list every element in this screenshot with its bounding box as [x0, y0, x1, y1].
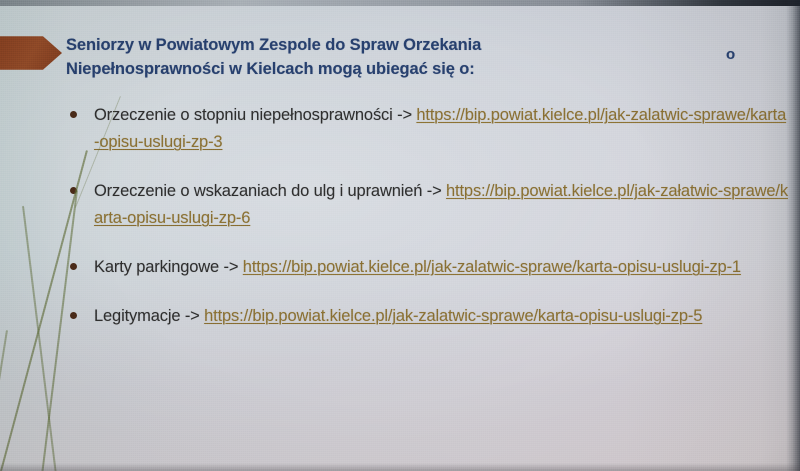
slide-title: Seniorzy w Powiatowym Zespole do Spraw O…	[66, 33, 706, 81]
list-item-label: Orzeczenie o wskazaniach do ulg i uprawn…	[94, 182, 422, 200]
arrow-separator: ->	[422, 182, 446, 200]
list-item: Orzeczenie o wskazaniach do ulg i uprawn…	[64, 178, 788, 232]
list-item: Karty parkingowe -> https://bip.powiat.k…	[64, 254, 788, 281]
bullet-marker-icon	[70, 263, 77, 270]
screen-frame-bottom	[0, 463, 800, 471]
slide-title-line-1: Seniorzy w Powiatowym Zespole do Spraw O…	[66, 33, 706, 57]
stray-character: o	[726, 46, 735, 64]
list-item: Legitymacje -> https://bip.powiat.kielce…	[64, 303, 788, 330]
list-item-label: Legitymacje	[94, 307, 180, 325]
screen-frame-right	[786, 0, 800, 471]
bullet-marker-icon	[70, 111, 77, 118]
arrow-separator: ->	[393, 106, 417, 124]
slide-content: Seniorzy w Powiatowym Zespole do Spraw O…	[0, 0, 800, 471]
list-item-link[interactable]: https://bip.powiat.kielce.pl/jak-zalatwi…	[204, 307, 702, 325]
arrow-separator: ->	[219, 258, 243, 276]
list-item-label: Karty parkingowe	[94, 258, 219, 276]
list-item: Orzeczenie o stopniu niepełnosprawności …	[64, 102, 788, 156]
bullet-marker-icon	[70, 312, 77, 319]
arrow-separator: ->	[180, 307, 204, 325]
list-item-label: Orzeczenie o stopniu niepełnosprawności	[94, 106, 393, 124]
slide-title-line-2: Niepełnosprawności w Kielcach mogą ubieg…	[66, 57, 706, 81]
projected-slide-photo: Seniorzy w Powiatowym Zespole do Spraw O…	[0, 0, 800, 471]
list-item-link[interactable]: https://bip.powiat.kielce.pl/jak-zalatwi…	[243, 258, 741, 276]
bullet-list: Orzeczenie o stopniu niepełnosprawności …	[64, 102, 788, 352]
title-arrow-decoration	[0, 34, 62, 72]
screen-frame-top	[0, 0, 800, 6]
